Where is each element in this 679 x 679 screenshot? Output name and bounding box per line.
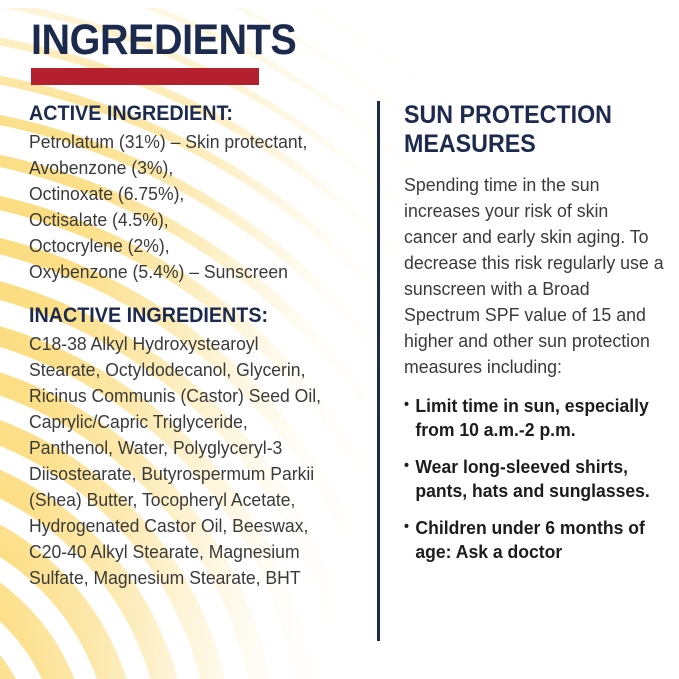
- paragraph-line: increases your risk of skin: [404, 198, 642, 224]
- bullet-line: Wear long-sleeved shirts,: [415, 455, 639, 479]
- paragraph-line: Spectrum SPF value of 15 and: [404, 302, 642, 328]
- column-divider: [377, 101, 380, 641]
- sun-protection-heading: SUN PROTECTION MEASURES: [404, 101, 635, 159]
- active-line: Oxybenzone (5.4%) – Sunscreen: [29, 259, 333, 285]
- page-title-block: INGREDIENTS: [31, 18, 361, 85]
- inactive-line: Panthenol, Water, Polyglyceryl-3: [29, 435, 333, 461]
- paragraph-line: Spending time in the sun: [404, 172, 642, 198]
- list-item: Children under 6 months of age: Ask a do…: [404, 516, 640, 564]
- active-line: Octisalate (4.5%),: [29, 207, 333, 233]
- inactive-line: Hydrogenated Castor Oil, Beeswax,: [29, 513, 333, 539]
- inactive-line: C18-38 Alkyl Hydroxystearoyl: [29, 331, 333, 357]
- page-title: INGREDIENTS: [31, 18, 335, 62]
- inactive-line: Ricinus Communis (Castor) Seed Oil,: [29, 383, 333, 409]
- list-item: Limit time in sun, especially from 10 a.…: [404, 394, 640, 442]
- bullet-line: from 10 a.m.-2 p.m.: [415, 418, 639, 442]
- inactive-line: Stearate, Octyldodecanol, Glycerin,: [29, 357, 333, 383]
- paragraph-line: measures including:: [404, 354, 642, 380]
- paragraph-line: decrease this risk regularly use a: [404, 250, 642, 276]
- ingredients-panel: INGREDIENTS ACTIVE INGREDIENT: Petrolatu…: [0, 0, 679, 679]
- active-ingredient-heading: ACTIVE INGREDIENT:: [29, 101, 330, 126]
- inactive-ingredient-list: C18-38 Alkyl Hydroxystearoyl Stearate, O…: [29, 331, 333, 591]
- inactive-line: (Shea) Butter, Tocopheryl Acetate,: [29, 487, 333, 513]
- bullet-line: Limit time in sun, especially: [415, 394, 639, 418]
- active-line: Petrolatum (31%) – Skin protectant,: [29, 129, 333, 155]
- inactive-line: Caprylic/Capric Triglyceride,: [29, 409, 333, 435]
- list-item: Wear long-sleeved shirts, pants, hats an…: [404, 455, 640, 503]
- active-line: Avobenzone (3%),: [29, 155, 333, 181]
- inactive-ingredients-heading: INACTIVE INGREDIENTS:: [29, 303, 330, 328]
- bullet-line: pants, hats and sunglasses.: [415, 479, 639, 503]
- bullet-line: Children under 6 months of: [415, 516, 639, 540]
- inactive-line: C20-40 Alkyl Stearate, Magnesium: [29, 539, 333, 565]
- paragraph-line: cancer and early skin aging. To: [404, 224, 642, 250]
- sun-protection-column: SUN PROTECTION MEASURES Spending time in…: [404, 101, 652, 577]
- section-spacer: [29, 285, 349, 303]
- active-ingredient-list: Petrolatum (31%) – Skin protectant, Avob…: [29, 129, 333, 285]
- ingredients-column: ACTIVE INGREDIENT: Petrolatum (31%) – Sk…: [29, 101, 349, 591]
- paragraph-line: sunscreen with a Broad: [404, 276, 642, 302]
- sun-protection-paragraph: Spending time in the sun increases your …: [404, 172, 642, 380]
- sun-protection-heading-line: MEASURES: [404, 130, 635, 159]
- title-underline-rule: [31, 68, 259, 85]
- inactive-line: Sulfate, Magnesium Stearate, BHT: [29, 565, 333, 591]
- paragraph-line: higher and other sun protection: [404, 328, 642, 354]
- active-line: Octinoxate (6.75%),: [29, 181, 333, 207]
- sun-protection-heading-line: SUN PROTECTION: [404, 101, 635, 130]
- inactive-line: Diisostearate, Butyrospermum Parkii: [29, 461, 333, 487]
- active-line: Octocrylene (2%),: [29, 233, 333, 259]
- bullet-line: age: Ask a doctor: [415, 540, 639, 564]
- sun-protection-bullet-list: Limit time in sun, especially from 10 a.…: [404, 394, 652, 564]
